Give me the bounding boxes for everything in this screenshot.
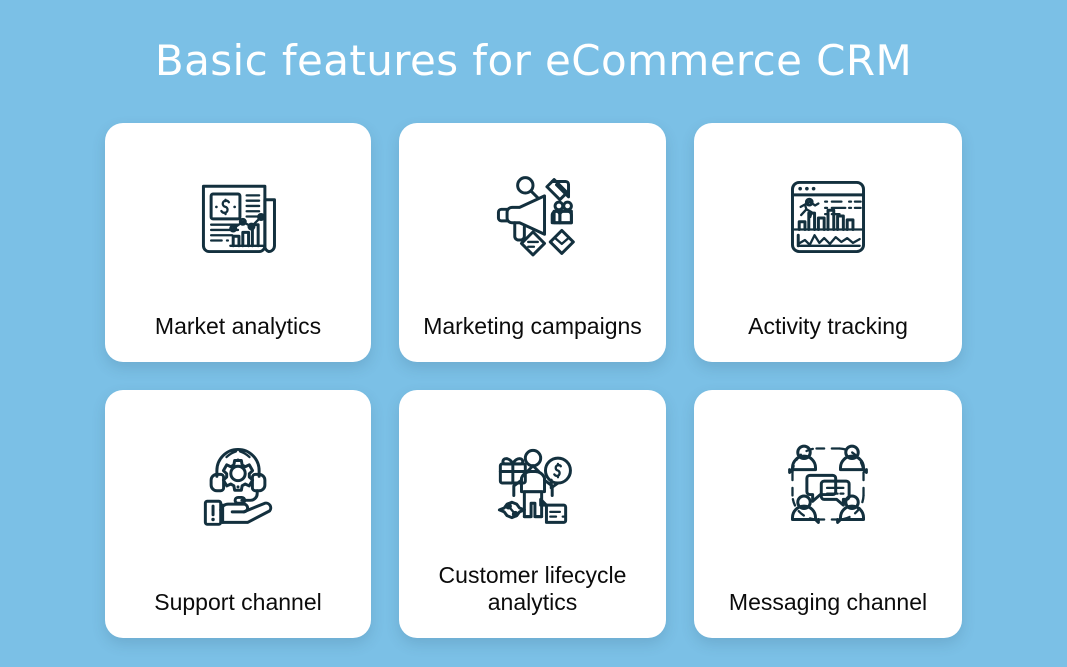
feature-card-label: Support channel — [154, 589, 322, 638]
feature-card-label: Market analytics — [155, 313, 321, 362]
megaphone-marketing-icon — [483, 167, 583, 267]
feature-card-grid: Market analytics — [105, 123, 962, 638]
feature-card-customer-lifecycle-analytics[interactable]: Customer lifecycle analytics — [399, 390, 666, 638]
feature-card-messaging-channel[interactable]: Messaging channel — [694, 390, 962, 638]
dashboard-activity-icon — [778, 167, 878, 267]
page-title: Basic features for eCommerce CRM — [0, 30, 1067, 92]
feature-card-label: Customer lifecycle analytics — [413, 562, 652, 638]
headset-gear-hand-icon — [188, 434, 288, 534]
feature-card-activity-tracking[interactable]: Activity tracking — [694, 123, 962, 362]
users-chat-network-icon — [778, 434, 878, 534]
feature-card-label: Messaging channel — [729, 589, 927, 638]
feature-card-marketing-campaigns[interactable]: Marketing campaigns — [399, 123, 666, 362]
feature-card-label: Marketing campaigns — [423, 313, 642, 362]
feature-card-market-analytics[interactable]: Market analytics — [105, 123, 371, 362]
feature-grid-page: Basic features for eCommerce CRM — [0, 0, 1067, 667]
customer-lifecycle-icon — [483, 434, 583, 534]
newspaper-analytics-icon — [188, 167, 288, 267]
feature-card-support-channel[interactable]: Support channel — [105, 390, 371, 638]
feature-card-label: Activity tracking — [748, 313, 908, 362]
